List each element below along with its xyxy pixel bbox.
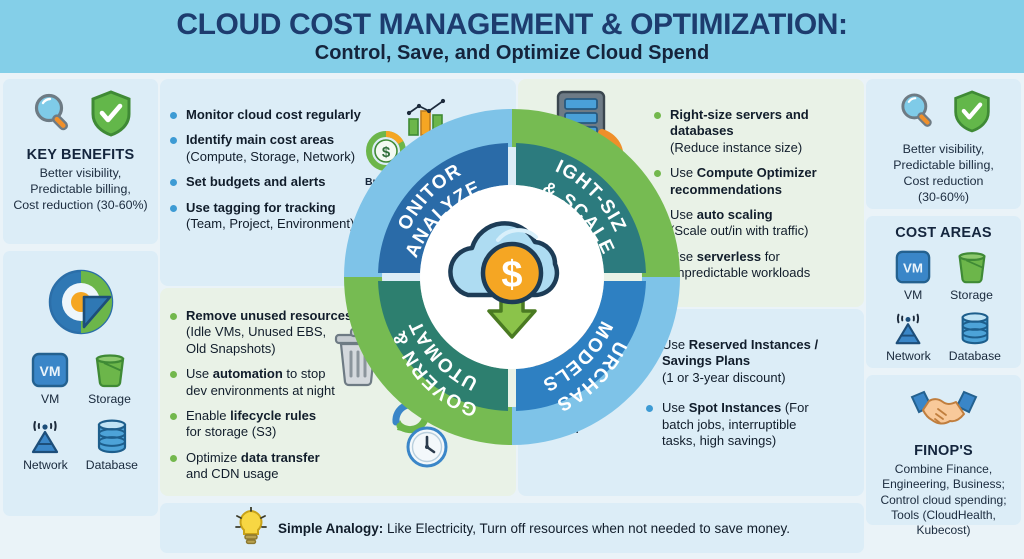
gear-chart-icon-wrap [9, 265, 152, 344]
cost-area-network-label: Network [886, 349, 931, 363]
svg-text:$: $ [382, 144, 391, 161]
cost-areas-card-left: VM VM Storage [3, 251, 158, 516]
infographic-root: CLOUD COST MANAGEMENT & OPTIMIZATION: Co… [0, 0, 1024, 559]
list-item: Use serverless forunpredictable workload… [654, 249, 854, 282]
cost-area-network-label: Network [23, 458, 68, 472]
cost-area-vm-label: VM [904, 288, 922, 302]
vm-icon: VM [894, 248, 932, 286]
cost-area-vm: VM VM [30, 350, 70, 406]
list-item: Use Spot Instances (Forbatch jobs, inter… [646, 400, 831, 449]
list-item: Monitor cloud cost regularly [170, 107, 385, 123]
trash-icon [330, 326, 386, 393]
cost-area-storage-label: Storage [88, 392, 131, 406]
cost-area-database: Database [949, 309, 1001, 363]
panel-monitor-analyze: Monitor cloud cost regularly Identify ma… [160, 79, 516, 286]
header-band: CLOUD COST MANAGEMENT & OPTIMIZATION: Co… [0, 0, 1024, 73]
key-benefits-title: KEY BENEFITS [9, 147, 152, 163]
handshake-icon-wrap [872, 385, 1015, 438]
benefits-body-right: Better visibility, Predictable billing, … [872, 142, 1015, 206]
magnifier-icon [29, 89, 77, 142]
analogy-label: Simple Analogy: [278, 521, 383, 536]
handshake-icon [908, 385, 980, 438]
panel-right-size-scale: Right-size servers and databases(Reduce … [518, 79, 864, 307]
list-item: Enable lifecycle rulesfor storage (S3) [170, 408, 370, 441]
benefits-card-right: Better visibility, Predictable billing, … [866, 79, 1021, 209]
analogy-text: Simple Analogy: Like Electricity, Turn o… [278, 521, 790, 536]
network-tower-icon [25, 416, 65, 456]
cost-area-row-1-right: VM VM Storage [872, 248, 1015, 302]
left-sidebar: KEY BENEFITS Better visibility, Predicta… [3, 79, 158, 523]
list-item: Set budgets and alerts [170, 174, 385, 190]
svg-text:VM: VM [40, 363, 61, 379]
cost-area-network: Network [23, 416, 68, 472]
cost-areas-title: COST AREAS [872, 225, 1015, 241]
right-sidebar: Better visibility, Predictable billing, … [866, 79, 1021, 532]
finops-body: Combine Finance, Engineering, Business; … [872, 462, 1015, 539]
gear-chart-icon [44, 265, 118, 344]
cost-area-storage: Storage [950, 248, 993, 302]
key-benefits-card: KEY BENEFITS Better visibility, Predicta… [3, 79, 158, 244]
database-icon [92, 416, 132, 456]
rightsize-bullet-list: Right-size servers and databases(Reduce … [654, 107, 854, 281]
storage-bucket-icon [90, 350, 130, 390]
budgets-icon-group: $ Budgets [358, 129, 414, 188]
main-stage: Monitor cloud cost regularly Identify ma… [160, 79, 864, 559]
key-benefits-icons [9, 89, 152, 142]
benefits-icons-right [872, 89, 1015, 138]
cost-area-row-1: VM VM Storage [9, 350, 152, 406]
page-title: CLOUD COST MANAGEMENT & OPTIMIZATION: [176, 9, 847, 41]
cost-area-database: Database [86, 416, 138, 472]
cost-area-row-2: Network Database [9, 416, 152, 472]
cost-area-vm-label: VM [41, 392, 59, 406]
lightbulb-icon [234, 507, 268, 550]
cost-area-storage-label: Storage [950, 288, 993, 302]
gavel-icon [518, 339, 590, 418]
list-item: Identify main cost areas(Compute, Storag… [170, 132, 385, 165]
cost-area-storage: Storage [88, 350, 131, 406]
purchase-bullet-list: Use Reserved Instances / Savings Plans(1… [646, 337, 831, 449]
cost-area-database-label: Database [949, 349, 1001, 363]
cost-area-vm: VM VM [894, 248, 932, 302]
panel-govern-automate: Remove unused resources(Idle VMs, Unused… [160, 288, 516, 496]
budgets-label: Budgets [358, 177, 414, 189]
panel-purchase-models: Use Reserved Instances / Savings Plans(1… [518, 309, 864, 496]
list-item: Use Compute Optimizer recommendations [654, 165, 854, 198]
list-item: Right-size servers and databases(Reduce … [654, 107, 854, 156]
key-benefits-body: Better visibility, Predictable billing, … [9, 166, 152, 214]
cost-area-network: Network [886, 309, 931, 363]
shield-check-icon [952, 89, 992, 138]
analogy-bar: Simple Analogy: Like Electricity, Turn o… [160, 503, 864, 553]
resize-arrows-icon [536, 123, 634, 198]
svg-text:VM: VM [903, 261, 923, 276]
database-icon [956, 309, 994, 347]
vm-icon: VM [30, 350, 70, 390]
list-item: Optimize data transferand CDN usage [170, 450, 370, 483]
magnifier-icon [896, 89, 940, 138]
storage-bucket-icon [953, 248, 991, 286]
shield-check-icon [89, 89, 133, 142]
network-tower-icon [889, 309, 927, 347]
cost-area-database-label: Database [86, 458, 138, 472]
cloud-billing-label: Cloud Billing Report [342, 241, 418, 264]
cost-areas-card-right: COST AREAS VM VM Storage [866, 216, 1021, 368]
auction-label: Auction [524, 425, 594, 437]
page-subtitle: Control, Save, and Optimize Cloud Spend [315, 43, 709, 64]
finops-card: FINOP'S Combine Finance, Engineering, Bu… [866, 375, 1021, 525]
cloud-document-icon [360, 193, 400, 237]
analogy-body: Like Electricity, Turn off resources whe… [383, 521, 790, 536]
list-item: Use Reserved Instances / Savings Plans(1… [646, 337, 831, 386]
clock-icon [403, 423, 451, 476]
donut-dollar-icon: $ [364, 129, 408, 173]
list-item: Use auto scaling(Scale out/in with traff… [654, 207, 854, 240]
finops-title: FINOP'S [872, 443, 1015, 459]
cost-area-row-2-right: Network Database [872, 309, 1015, 363]
cloud-billing-icon-group: Cloud Billing Report [342, 193, 418, 264]
